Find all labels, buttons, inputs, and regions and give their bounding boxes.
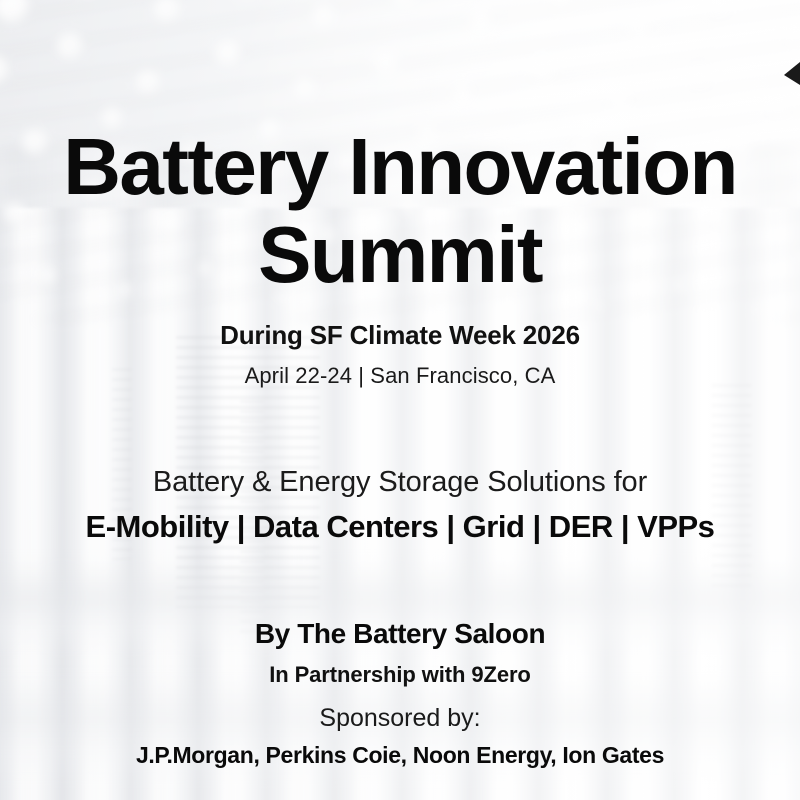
- event-week-headline: During SF Climate Week 2026: [0, 320, 800, 351]
- topics-lead-text: Battery & Energy Storage Solutions for: [0, 466, 800, 499]
- title-line-2: Summit: [0, 216, 800, 294]
- event-schedule: During SF Climate Week 2026 April 22-24 …: [0, 320, 800, 389]
- topics-segment-list: E-Mobility | Data Centers | Grid | DER |…: [0, 509, 800, 545]
- event-poster: Battery Innovation Summit During SF Clim…: [0, 0, 800, 800]
- event-organizers: By The Battery Saloon In Partnership wit…: [0, 618, 800, 769]
- poster-content: Battery Innovation Summit During SF Clim…: [0, 0, 800, 800]
- event-date-location: April 22-24 | San Francisco, CA: [0, 363, 800, 389]
- host-organization: By The Battery Saloon: [0, 618, 800, 650]
- title-line-1: Battery Innovation: [0, 128, 800, 206]
- sponsor-list: J.P.Morgan, Perkins Coie, Noon Energy, I…: [0, 742, 800, 769]
- event-topics: Battery & Energy Storage Solutions for E…: [0, 466, 800, 545]
- poster-title: Battery Innovation Summit: [0, 128, 800, 293]
- partner-organization: In Partnership with 9Zero: [0, 662, 800, 688]
- sponsor-label: Sponsored by:: [0, 704, 800, 733]
